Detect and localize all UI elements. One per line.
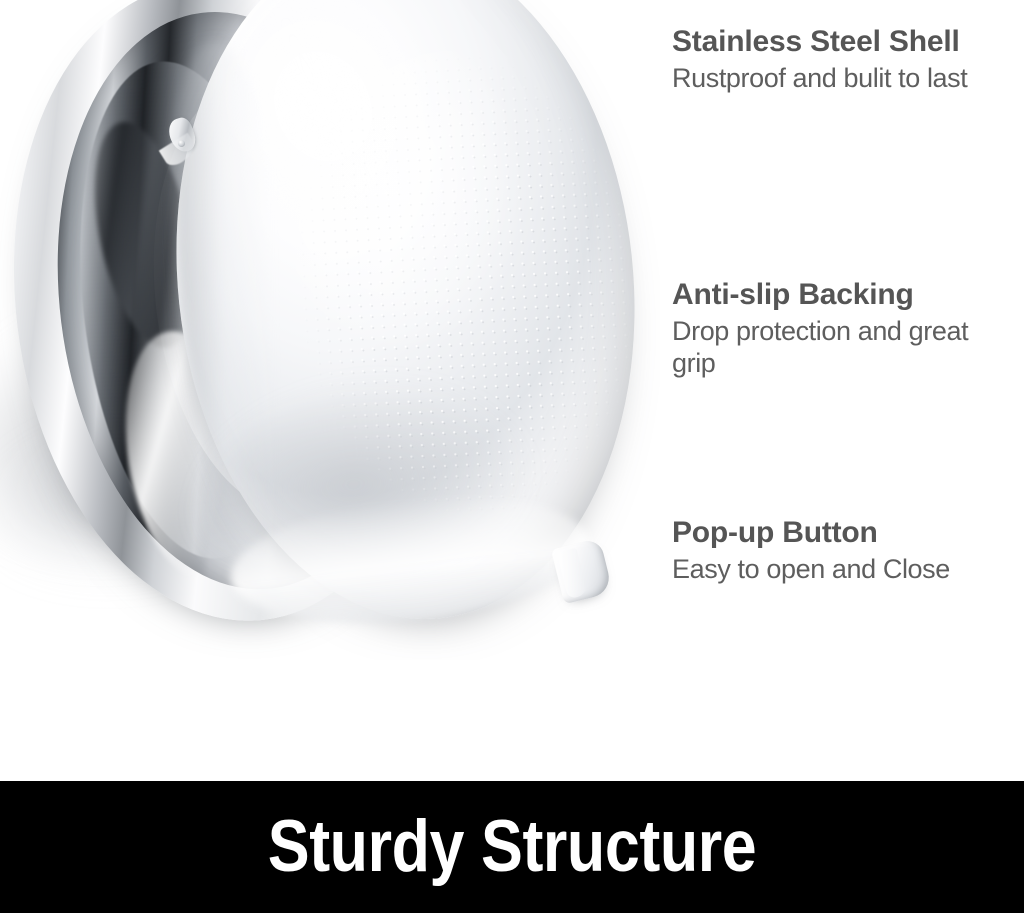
feature-title: Anti-slip Backing [672, 277, 1018, 313]
feature-description: Rustproof and bulit to last [672, 62, 1018, 94]
anti-slip-texture-disc [272, 34, 659, 537]
feature-description: Easy to open and Close [672, 553, 1024, 585]
popup-button-tab [551, 538, 613, 604]
feature-title: Stainless Steel Shell [672, 24, 1018, 60]
feature-description: Drop protection and great grip [672, 315, 1018, 379]
anti-slip-dot-grid [272, 34, 659, 537]
feature-popup-button: Pop-up Button Easy to open and Close [672, 515, 1024, 585]
mirror-hinge-pin [178, 140, 185, 147]
banner-headline: Sturdy Structure [268, 807, 756, 887]
infographic-stage: Stainless Steel Shell Rustproof and buli… [0, 0, 1024, 913]
product-image-compact-mirror [0, 0, 660, 660]
feature-title: Pop-up Button [672, 515, 1024, 551]
bottom-banner: Sturdy Structure [0, 781, 1024, 913]
feature-stainless-steel-shell: Stainless Steel Shell Rustproof and buli… [672, 24, 1018, 94]
popup-button-tab-face [557, 548, 588, 599]
feature-anti-slip-backing: Anti-slip Backing Drop protection and gr… [672, 277, 1018, 379]
